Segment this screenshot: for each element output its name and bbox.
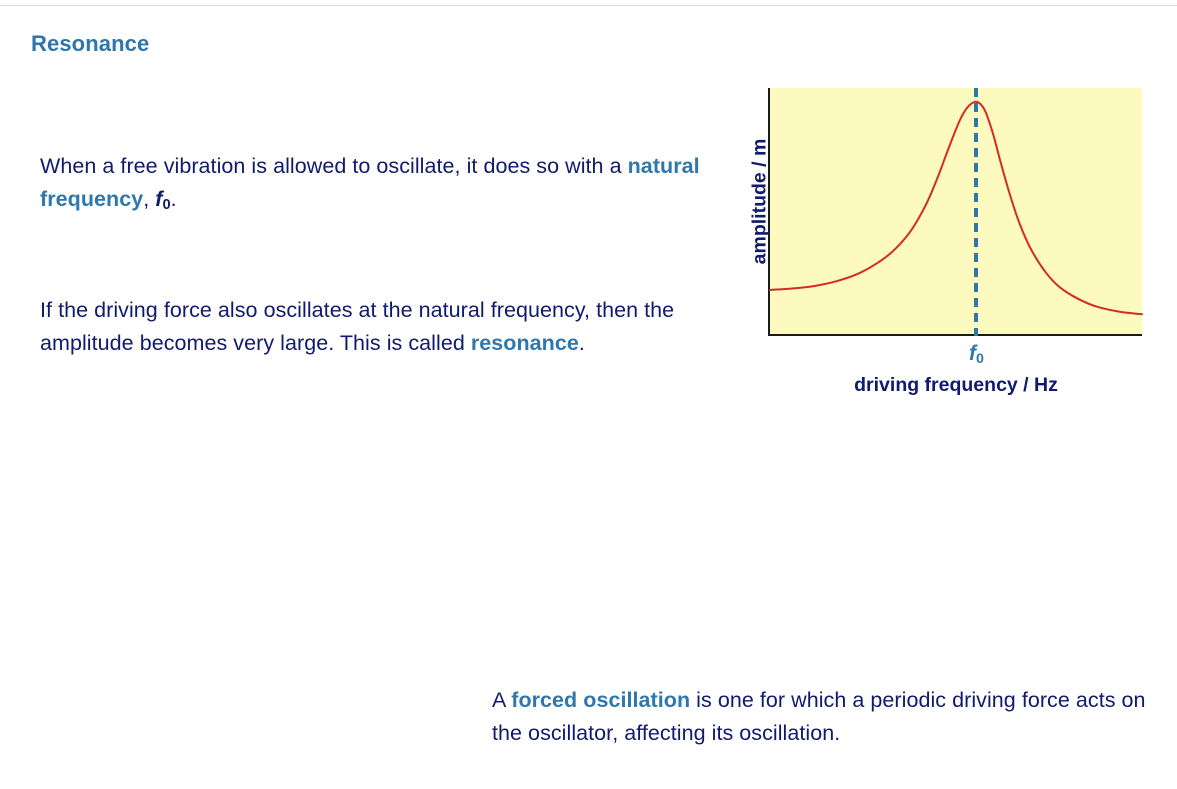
natural-frequency-marker-line [974,88,978,336]
symbol-f0-inline: f0 [155,187,170,211]
paragraph-1-lead: When a free vibration is allowed to osci… [40,154,628,178]
paragraph-natural-frequency: When a free vibration is allowed to osci… [40,150,700,219]
term-resonance: resonance [471,331,579,355]
chart-y-axis-label: amplitude / m [749,112,772,292]
paragraph-1-comma: , [143,187,155,211]
paragraph-1-tail: . [171,187,177,211]
term-forced-oscillation: forced oscillation [511,688,690,712]
paragraph-forced-oscillation: A forced oscillation is one for which a … [492,684,1172,750]
f0-subscript: 0 [976,351,984,367]
chart-curve [770,88,1142,334]
paragraph-resonance: If the driving force also oscillates at … [40,294,700,360]
resonance-curve-chart: f0 driving frequency / Hz amplitude / m [730,78,1160,398]
symbol-f-subscript: 0 [162,197,170,213]
chart-x-axis-label: driving frequency / Hz [770,374,1142,397]
page-title: Resonance [31,31,149,57]
chart-x-axis-line [768,334,1142,336]
paragraph-3-lead: A [492,688,511,712]
page-top-divider [0,5,1177,6]
chart-tick-label-f0: f0 [926,342,1026,366]
f0-letter: f [969,342,976,365]
paragraph-2-tail: . [579,331,585,355]
